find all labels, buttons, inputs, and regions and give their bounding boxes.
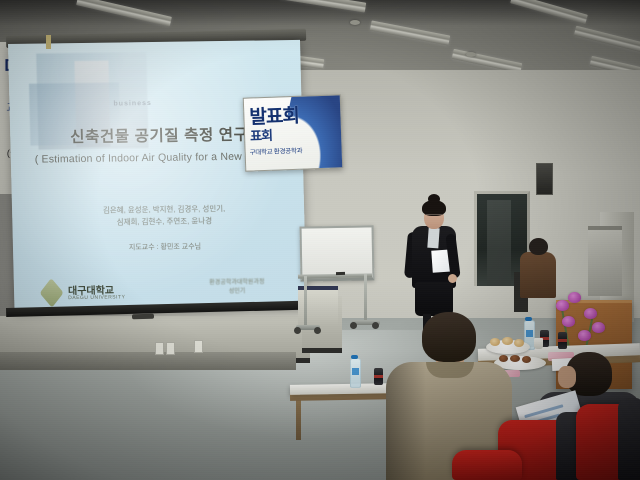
orchid-bloom: [556, 300, 569, 311]
wall-outlet[interactable]: [166, 342, 175, 355]
auditorium-seat-back: [618, 398, 640, 480]
slide-background-word: business: [113, 100, 152, 108]
banner-subtitle: 표회: [250, 125, 273, 145]
door-latch-icon[interactable]: [46, 35, 51, 49]
person-body: [520, 252, 556, 298]
orchid-bloom: [562, 316, 575, 327]
coffee-can[interactable]: [558, 332, 567, 349]
event-banner: 발표회 표회 구대학교 환경공학과: [243, 94, 344, 171]
seminar-room-photo: 대 교 · (금) business 신축건물 공기질 측정 연구 ( Esti…: [0, 0, 640, 480]
orchid-bloom: [592, 322, 605, 333]
orchid-bloom: [584, 308, 597, 319]
whiteboard-caster: [294, 327, 301, 334]
water-bottle[interactable]: [350, 358, 361, 388]
presenter-blouse: [427, 228, 439, 249]
presenter-glasses-icon: [426, 214, 443, 219]
orchid-bloom: [578, 330, 591, 341]
sprinkler-head: [466, 52, 476, 57]
person-face: [558, 366, 576, 388]
seated-person-rear: [520, 238, 556, 298]
table-leg: [296, 396, 301, 440]
slide-footer: 환경공학과대학원과정 성민기: [182, 278, 292, 298]
paper-cup[interactable]: [534, 338, 543, 349]
projection-screen: business 신축건물 공기질 측정 연구 ( Estimation of …: [8, 40, 307, 312]
person-head: [529, 238, 548, 255]
door-leaf: [487, 200, 511, 286]
screen-pull-handle[interactable]: [132, 314, 154, 320]
slide-authors: 김은혜, 윤성운, 박지현, 김경우, 성민기, 심재희, 김현수, 주연조, …: [30, 202, 299, 230]
projection-screen-assembly: business 신축건물 공기질 측정 연구 ( Estimation of …: [6, 36, 306, 326]
slide-footer-line-2: 성민기: [182, 287, 292, 298]
whiteboard-leg: [304, 276, 307, 326]
whiteboard-caster: [372, 322, 379, 329]
slide-advisor: 지도교수 : 황민조 교수님: [31, 240, 299, 254]
slide-authors-line-2: 심재희, 김현수, 주연조, 윤나경: [30, 214, 298, 230]
bottle-cap: [525, 317, 532, 321]
stage-platform-lower: [0, 352, 296, 370]
auditorium-seat[interactable]: [452, 450, 522, 480]
jacket-shadow: [386, 362, 426, 480]
orchid-bloom: [568, 292, 581, 303]
bread-item: [514, 339, 524, 347]
lectern: [588, 226, 622, 296]
wall-speaker-icon: [536, 163, 553, 195]
coffee-can[interactable]: [374, 368, 383, 385]
person-head: [422, 312, 476, 362]
whiteboard-marker[interactable]: [336, 272, 345, 275]
whiteboard-caster: [350, 322, 357, 329]
wall-outlet[interactable]: [155, 342, 164, 355]
university-name-en: DAEGU UNIVERSITY: [68, 294, 125, 301]
sprinkler-head: [350, 20, 360, 25]
wall-outlet[interactable]: [194, 340, 203, 353]
whiteboard-caster: [314, 327, 321, 334]
presenter-hair-bun: [428, 194, 440, 204]
whiteboard-leg: [364, 274, 367, 322]
bottle-cap: [351, 355, 358, 359]
banner-department: 구대학교 환경공학과: [249, 145, 302, 157]
university-logo-mark-icon: [40, 278, 64, 308]
daegu-university-logo: 대구대학교 DAEGU UNIVERSITY: [42, 280, 143, 305]
presenter-hand: [448, 274, 457, 283]
presenter-skirt: [415, 282, 453, 316]
